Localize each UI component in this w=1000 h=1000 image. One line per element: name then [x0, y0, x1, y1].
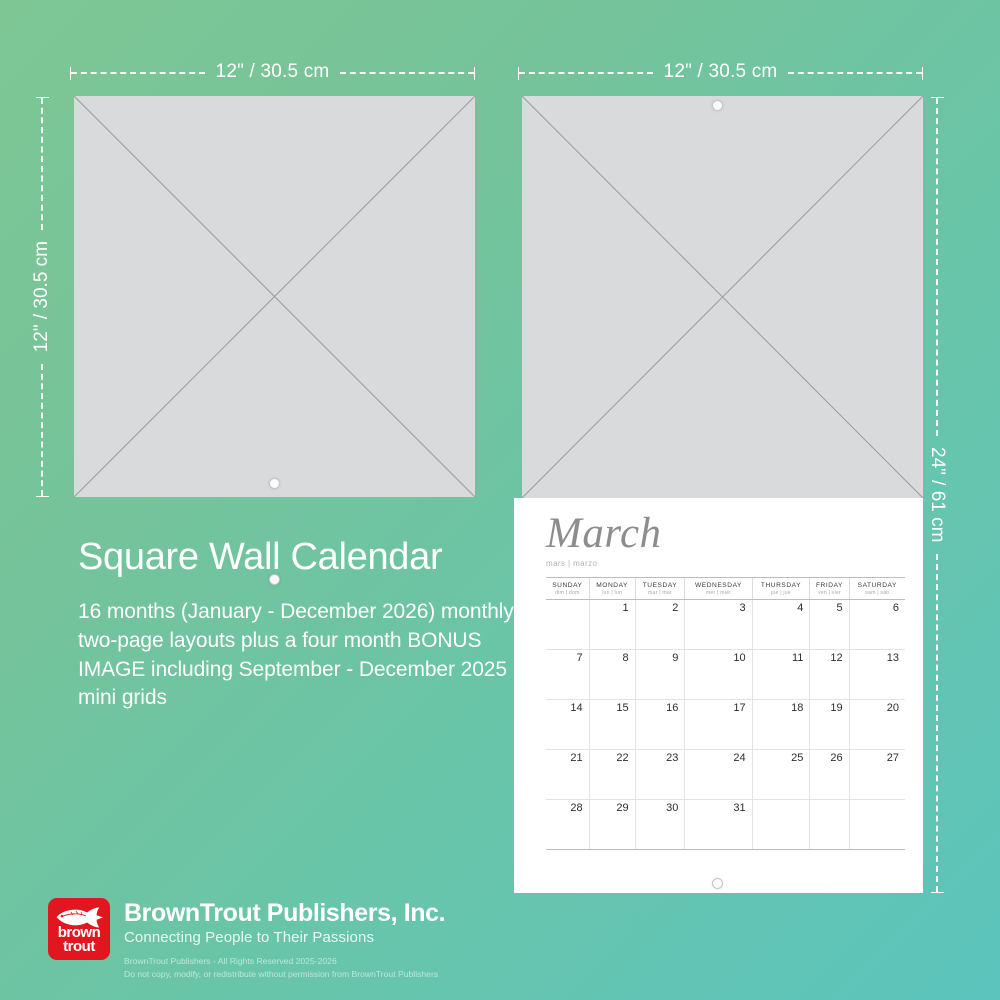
day-header-sublabel: sam | sáb [850, 590, 905, 596]
calendar-day-cell [546, 600, 589, 650]
calendar-day-cell: 24 [685, 750, 752, 800]
browntrout-logo: brown trout [48, 898, 110, 960]
calendar-day-cell: 27 [849, 750, 905, 800]
calendar-day-cell: 4 [752, 600, 810, 650]
dimension-left-height-label: 12" / 30.5 cm [31, 230, 53, 363]
calendar-month-subtitle: mars | marzo [546, 559, 905, 568]
dash-line [936, 98, 938, 436]
calendar-page: March mars | marzo SUNDAY dim | dom MOND… [514, 498, 923, 893]
calendar-day-cell: 1 [589, 600, 635, 650]
calendar-day-cell [810, 800, 849, 850]
hole-punch-right-panel-top [712, 100, 723, 111]
day-header-label: FRIDAY [810, 582, 848, 589]
hole-punch-calendar-bottom [712, 878, 723, 889]
dash-line [340, 72, 474, 74]
dimension-left-width: 12" / 30.5 cm [70, 64, 475, 82]
day-header-sunday: SUNDAY dim | dom [546, 578, 589, 600]
calendar-week-row: 21 22 23 24 25 26 27 [546, 750, 905, 800]
tick-end [922, 67, 923, 80]
calendar-day-cell: 23 [635, 750, 685, 800]
tick-end [931, 892, 944, 893]
dash-line [519, 72, 653, 74]
day-header-label: TUESDAY [636, 582, 685, 589]
calendar-day-cell: 28 [546, 800, 589, 850]
calendar-day-cell: 25 [752, 750, 810, 800]
day-header-sublabel: lun | lun [590, 590, 635, 596]
day-header-label: THURSDAY [753, 582, 810, 589]
calendar-header-row: SUNDAY dim | dom MONDAY lun | lun TUESDA… [546, 578, 905, 600]
copyright-line-2: Do not copy, modify, or redistribute wit… [124, 968, 445, 980]
calendar-day-cell: 30 [635, 800, 685, 850]
calendar-day-cell: 6 [849, 600, 905, 650]
calendar-day-cell: 11 [752, 650, 810, 700]
day-header-label: WEDNESDAY [685, 582, 751, 589]
dash-line [788, 72, 922, 74]
hole-punch-left-panel [269, 478, 280, 489]
dimension-right-width: 12" / 30.5 cm [518, 64, 923, 82]
product-description: 16 months (January - December 2026) mont… [78, 598, 518, 713]
left-image-panel [74, 96, 475, 497]
calendar-day-cell: 16 [635, 700, 685, 750]
calendar-week-row: 28 29 30 31 [546, 800, 905, 850]
copyright-line-1: BrownTrout Publishers - All Rights Reser… [124, 955, 445, 967]
day-header-wednesday: WEDNESDAY mer | miér [685, 578, 752, 600]
calendar-content: March mars | marzo SUNDAY dim | dom MOND… [546, 512, 905, 859]
dimension-left-height: 12" / 30.5 cm [33, 97, 51, 497]
calendar-day-cell: 26 [810, 750, 849, 800]
day-header-sublabel: ven | vier [810, 590, 848, 596]
calendar-day-cell: 14 [546, 700, 589, 750]
dash-line [71, 72, 205, 74]
calendar-day-cell: 29 [589, 800, 635, 850]
calendar-day-cell: 31 [685, 800, 752, 850]
calendar-week-row: 1 2 3 4 5 6 [546, 600, 905, 650]
calendar-day-cell: 17 [685, 700, 752, 750]
calendar-day-cell [752, 800, 810, 850]
day-header-saturday: SATURDAY sam | sáb [849, 578, 905, 600]
day-header-sublabel: mar | mar [636, 590, 685, 596]
day-header-label: SUNDAY [546, 582, 589, 589]
calendar-day-cell: 19 [810, 700, 849, 750]
dimension-right-height-label: 24" / 61 cm [926, 436, 948, 553]
calendar-day-cell: 15 [589, 700, 635, 750]
day-header-monday: MONDAY lun | lun [589, 578, 635, 600]
footer-text-column: BrownTrout Publishers, Inc. Connecting P… [124, 898, 445, 980]
tick-end [36, 496, 49, 497]
calendar-day-cell: 18 [752, 700, 810, 750]
dimension-right-width-label: 12" / 30.5 cm [653, 61, 789, 83]
calendar-day-cell: 8 [589, 650, 635, 700]
right-image-panel [522, 96, 923, 498]
dash-line [41, 364, 43, 496]
dimension-left-width-label: 12" / 30.5 cm [205, 61, 341, 83]
publisher-tagline: Connecting People to Their Passions [124, 929, 445, 946]
publisher-name: BrownTrout Publishers, Inc. [124, 900, 445, 926]
day-header-tuesday: TUESDAY mar | mar [635, 578, 685, 600]
product-title: Square Wall Calendar [78, 536, 442, 579]
footer: brown trout BrownTrout Publishers, Inc. … [48, 898, 445, 980]
dash-line [936, 554, 938, 892]
calendar-month-title: March [546, 512, 905, 555]
calendar-day-cell: 5 [810, 600, 849, 650]
calendar-day-cell: 10 [685, 650, 752, 700]
calendar-day-cell: 3 [685, 600, 752, 650]
placeholder-cross-lines [74, 96, 475, 497]
calendar-day-cell: 13 [849, 650, 905, 700]
calendar-day-cell: 9 [635, 650, 685, 700]
calendar-day-cell: 20 [849, 700, 905, 750]
day-header-label: MONDAY [590, 582, 635, 589]
day-header-sublabel: mer | miér [685, 590, 751, 596]
calendar-day-cell: 7 [546, 650, 589, 700]
dash-line [41, 98, 43, 230]
tick-end [474, 67, 475, 80]
logo-word-trout: trout [48, 940, 110, 955]
calendar-day-cell: 21 [546, 750, 589, 800]
day-header-thursday: THURSDAY jue | jue [752, 578, 810, 600]
calendar-day-cell: 2 [635, 600, 685, 650]
calendar-day-cell [849, 800, 905, 850]
copyright-notice: BrownTrout Publishers - All Rights Reser… [124, 955, 445, 980]
calendar-day-cell: 12 [810, 650, 849, 700]
dimension-right-height: 24" / 61 cm [928, 97, 946, 893]
calendar-day-cell: 22 [589, 750, 635, 800]
day-header-label: SATURDAY [850, 582, 905, 589]
day-header-sublabel: dim | dom [546, 590, 589, 596]
day-header-friday: FRIDAY ven | vier [810, 578, 849, 600]
day-header-sublabel: jue | jue [753, 590, 810, 596]
calendar-week-row: 14 15 16 17 18 19 20 [546, 700, 905, 750]
placeholder-cross-lines [522, 96, 923, 498]
calendar-grid: SUNDAY dim | dom MONDAY lun | lun TUESDA… [546, 577, 905, 850]
calendar-week-row: 7 8 9 10 11 12 13 [546, 650, 905, 700]
